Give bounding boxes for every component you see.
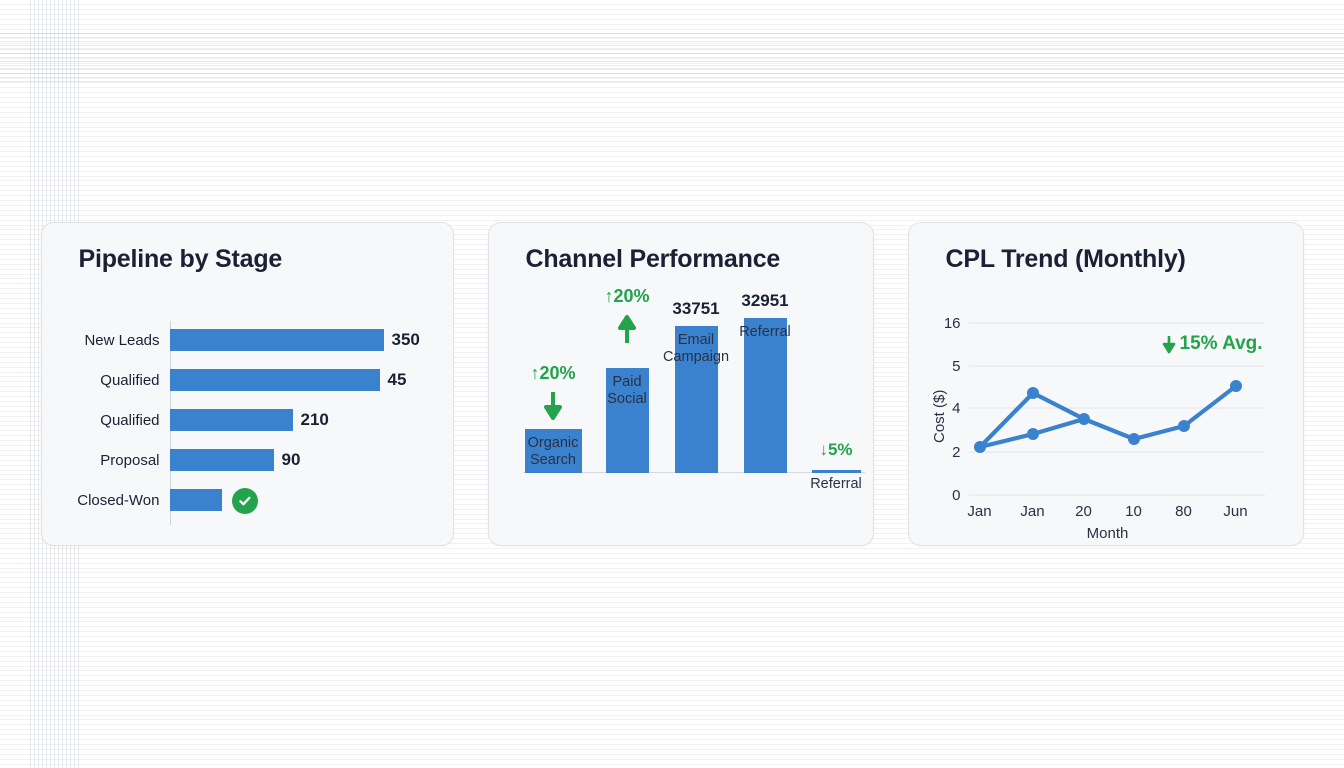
channel-value-label: 32951 (741, 291, 788, 311)
channel-x-label: EmailCampaign (663, 332, 729, 366)
card-title-cpl: CPL Trend (Monthly) (946, 245, 1186, 274)
pipeline-bar-fill (170, 409, 293, 431)
table-row[interactable]: Qualified 210 (42, 403, 455, 437)
pipeline-bar-track: 45 (170, 363, 455, 397)
pipeline-bar-value: 90 (282, 450, 301, 470)
table-row[interactable]: Qualified 45 (42, 363, 455, 397)
table-row[interactable]: Closed-Won (42, 483, 455, 517)
card-cpl-trend: CPL Trend (Monthly) 16 5 4 2 0 Cost ($) (908, 222, 1304, 546)
arrow-down-icon (543, 391, 563, 426)
cpl-x-axis-title: Month (1087, 525, 1129, 542)
pipeline-bar-value: 45 (388, 370, 407, 390)
pipeline-category-label: Closed-Won (42, 492, 170, 509)
channel-delta-label: ↓5% (819, 440, 852, 460)
pipeline-bar-track: 350 (170, 323, 455, 357)
pipeline-bar-track: 210 (170, 403, 455, 437)
arrow-down-icon (1162, 335, 1176, 354)
channel-delta-label: ↑20% (604, 286, 649, 307)
card-channel-performance: Channel Performance ↑20% OrganicSearch (488, 222, 874, 546)
dashboard-container: Pipeline by Stage New Leads 350 Qualifie… (0, 0, 1344, 768)
pipeline-bar-value: 350 (392, 330, 420, 350)
channel-x-label: Referral (739, 324, 791, 341)
pipeline-bar-track: 90 (170, 443, 455, 477)
table-row[interactable]: New Leads 350 (42, 323, 455, 357)
pipeline-bar-track (170, 483, 455, 517)
arrow-up-icon (617, 314, 637, 349)
check-circle-icon (232, 488, 258, 514)
pipeline-bar-value: 210 (301, 410, 329, 430)
cpl-trend-annotation: 15% Avg. (1162, 333, 1263, 355)
channel-x-label: PaidSocial (607, 374, 647, 408)
card-pipeline-by-stage: Pipeline by Stage New Leads 350 Qualifie… (41, 222, 454, 546)
table-row[interactable]: Proposal 90 (42, 443, 455, 477)
channel-bar-fill (812, 470, 861, 473)
pipeline-category-label: Qualified (42, 412, 170, 429)
cpl-x-tick: Jan (1020, 503, 1044, 520)
card-title-channel: Channel Performance (526, 245, 781, 274)
channel-bar-chart: ↑20% OrganicSearch ↑20% (523, 293, 865, 539)
pipeline-category-label: Proposal (42, 452, 170, 469)
cpl-x-tick: Jun (1223, 503, 1247, 520)
cpl-trend-annotation-text: 15% Avg. (1180, 333, 1263, 355)
card-title-pipeline: Pipeline by Stage (79, 245, 283, 274)
cpl-line-chart: 16 5 4 2 0 Cost ($) (909, 293, 1305, 543)
channel-value-label: 33751 (672, 299, 719, 319)
channel-bar-fill (744, 318, 787, 473)
pipeline-bar-fill (170, 449, 274, 471)
pipeline-bar-chart: New Leads 350 Qualified 45 Qualified 210 (42, 319, 455, 534)
channel-delta-label: ↑20% (530, 363, 575, 384)
pipeline-bar-fill (170, 369, 380, 391)
cpl-x-tick: 20 (1075, 503, 1092, 520)
channel-bar-column[interactable]: ↑20% PaidSocial (606, 368, 649, 473)
pipeline-category-label: Qualified (42, 372, 170, 389)
channel-bar-column[interactable]: 33751 EmailCampaign (675, 326, 718, 473)
channel-x-label: Referral (810, 476, 862, 493)
cpl-x-tick: Jan (967, 503, 991, 520)
pipeline-bar-fill (170, 489, 222, 511)
pipeline-bar-fill (170, 329, 384, 351)
cpl-x-tick: 80 (1175, 503, 1192, 520)
channel-bar-column[interactable]: 32951 Referral (744, 318, 787, 473)
pipeline-category-label: New Leads (42, 332, 170, 349)
cpl-x-tick: 10 (1125, 503, 1142, 520)
channel-x-label: OrganicSearch (528, 435, 579, 469)
channel-bar-column[interactable]: ↑20% OrganicSearch (525, 429, 582, 473)
channel-bar-column[interactable]: ↓5% Referral (812, 470, 861, 473)
